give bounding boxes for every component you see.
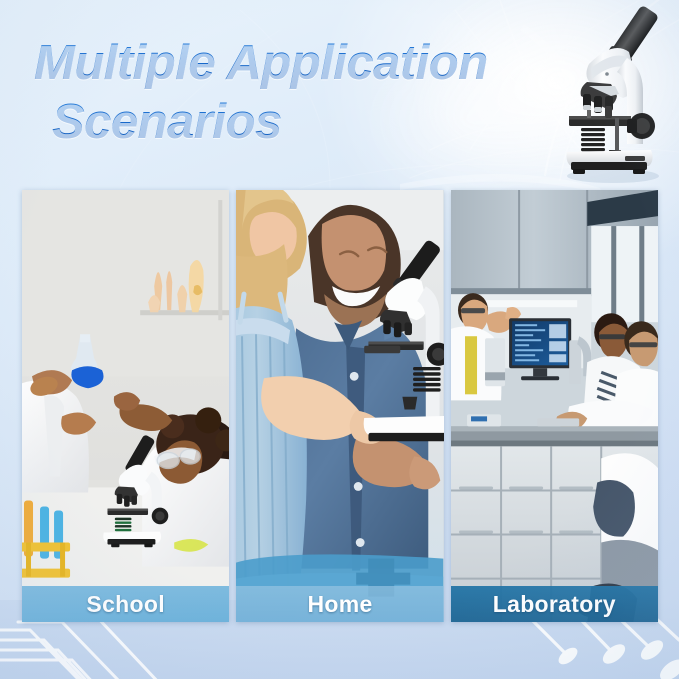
scenario-panel-home[interactable]: Home [236, 190, 443, 622]
caption-label: School [86, 591, 164, 618]
laboratory-scene-photo [451, 190, 658, 622]
school-scene-photo [22, 190, 229, 622]
caption-label: Laboratory [493, 591, 616, 618]
scenario-panels: School [22, 190, 658, 622]
microscope-product-image [543, 6, 675, 184]
scenario-panel-school[interactable]: School [22, 190, 229, 622]
title-line-2: Scenarios [34, 93, 594, 152]
panel-caption-laboratory: Laboratory [451, 586, 658, 622]
caption-label: Home [307, 591, 372, 618]
panel-caption-home: Home [236, 586, 443, 622]
promo-poster: Multiple Application Scenarios [0, 0, 679, 679]
title-line-1: Multiple Application [34, 34, 594, 93]
page-title: Multiple Application Scenarios [34, 34, 594, 152]
panel-caption-school: School [22, 586, 229, 622]
home-scene-photo [236, 190, 443, 622]
scenario-panel-laboratory[interactable]: Laboratory [451, 190, 658, 622]
